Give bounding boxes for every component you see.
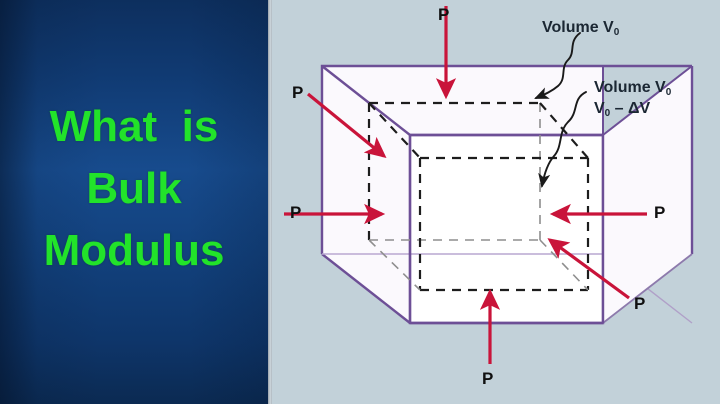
volume-label-compressed-line2-rest: – ΔV <box>610 100 650 117</box>
title-line-2: Bulk <box>0 158 268 220</box>
pressure-label-top: P <box>438 6 449 23</box>
bulk-modulus-diagram <box>272 0 720 404</box>
diagram-panel: P P P P P P Volume V0 Volume V0V0 – ΔV <box>272 0 720 404</box>
slide-title: What is Bulk Modulus <box>0 96 268 282</box>
volume-label-original: Volume V0 <box>542 18 619 39</box>
pressure-label-lower-right: P <box>634 295 645 312</box>
volume-label-compressed: Volume V0V0 – ΔV <box>594 78 671 120</box>
pressure-label-left: P <box>290 204 301 221</box>
volume-label-original-subscript: 0 <box>614 27 620 38</box>
volume-label-compressed-line1-subscript: 0 <box>666 87 672 98</box>
volume-label-compressed-line2-v: V <box>594 100 605 117</box>
pressure-label-upper-left: P <box>292 84 303 101</box>
volume-label-compressed-line2-subscript: 0 <box>605 108 611 119</box>
title-line-3: Modulus <box>0 220 268 282</box>
pressure-label-right: P <box>654 204 665 221</box>
volume-label-compressed-line1: Volume V <box>594 79 666 96</box>
volume-label-original-text: Volume V <box>542 19 614 36</box>
title-panel: What is Bulk Modulus <box>0 0 268 404</box>
title-line-1: What is <box>0 96 268 158</box>
slide-root: What is Bulk Modulus <box>0 0 720 404</box>
pressure-label-bottom: P <box>482 370 493 387</box>
